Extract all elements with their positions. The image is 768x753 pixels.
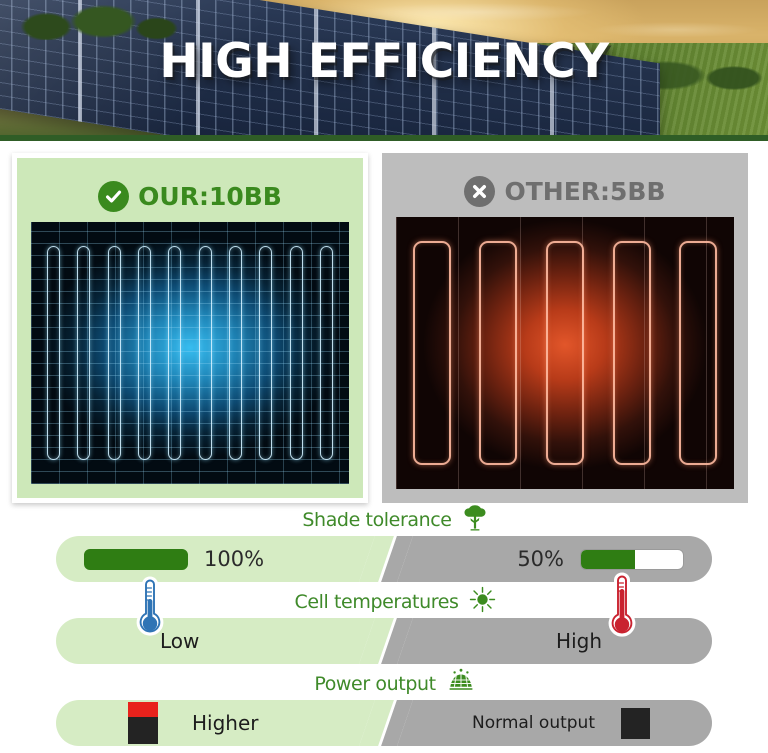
page-title: HIGH EFFICIENCY [0, 34, 768, 89]
metric-bar-power-output: Higher Normal output [56, 700, 712, 746]
metric-left-value: Higher [192, 711, 259, 735]
panel-ours-label: OUR:10BB [138, 182, 282, 211]
metric-bar-left: Low [56, 618, 384, 664]
panel-other: OTHER:5BB [382, 153, 748, 503]
solar-cell-image-other [396, 217, 734, 489]
metric-bar-left: 100% [56, 536, 384, 582]
progress-bar-full [84, 549, 188, 570]
swatch-black-icon [621, 708, 650, 739]
swatch-red-black-icon [128, 702, 158, 744]
busbar [259, 246, 272, 461]
busbar [229, 246, 242, 461]
metric-caption-label: Cell temperatures [294, 591, 458, 613]
metric-left-value: 100% [204, 547, 264, 571]
busbar [199, 246, 212, 461]
busbar [168, 246, 181, 461]
busbar [546, 241, 584, 464]
metric-caption-cell-temperatures: Cell temperatures [78, 585, 712, 618]
metric-left-value: Low [160, 629, 199, 653]
busbar [290, 246, 303, 461]
hero-banner: HIGH EFFICIENCY [0, 0, 768, 141]
busbars-other [413, 241, 717, 464]
tree-icon [462, 503, 488, 536]
busbar [138, 246, 151, 461]
sun-icon [469, 586, 496, 618]
metric-bar-right: High [384, 618, 712, 664]
busbar [679, 241, 717, 464]
metric-row-shade-tolerance: Shade tolerance 100% 50% [56, 503, 712, 582]
metric-caption-shade-tolerance: Shade tolerance [78, 503, 712, 536]
metric-bar-right: Normal output [384, 700, 712, 746]
busbars-ours [47, 246, 333, 461]
progress-fill [581, 550, 635, 569]
metric-bar-cell-temperatures: Low High [56, 618, 712, 664]
panel-other-label: OTHER:5BB [504, 177, 665, 206]
busbar [613, 241, 651, 464]
busbar [47, 246, 60, 461]
busbar [77, 246, 90, 461]
busbar [413, 241, 451, 464]
check-circle-icon [98, 181, 129, 212]
metric-bar-left: Higher [56, 700, 384, 746]
metric-caption-label: Power output [314, 673, 435, 695]
metric-caption-power-output: Power output [78, 667, 712, 700]
busbar [108, 246, 121, 461]
metric-caption-label: Shade tolerance [302, 509, 451, 531]
metric-right-value: 50% [517, 547, 564, 571]
progress-bar-half [580, 549, 684, 570]
metric-right-value: Normal output [472, 713, 595, 733]
metric-row-power-output: Power output [56, 667, 712, 746]
comparison-section: OUR:10BB [0, 141, 768, 503]
panel-ours-header: OUR:10BB [98, 170, 282, 222]
busbar [320, 246, 333, 461]
solar-panel-icon [446, 668, 476, 700]
metric-row-cell-temperatures: Cell temperatures [56, 585, 712, 664]
metric-bar-shade-tolerance: 100% 50% [56, 536, 712, 582]
metric-bar-right: 50% [384, 536, 712, 582]
metric-right-value: High [556, 629, 602, 653]
metrics-section: Shade tolerance 100% 50% [0, 503, 768, 746]
panel-other-header: OTHER:5BB [464, 165, 665, 217]
busbar [479, 241, 517, 464]
solar-cell-image-ours [31, 222, 349, 484]
x-circle-icon [464, 176, 495, 207]
panel-ours: OUR:10BB [12, 153, 368, 503]
